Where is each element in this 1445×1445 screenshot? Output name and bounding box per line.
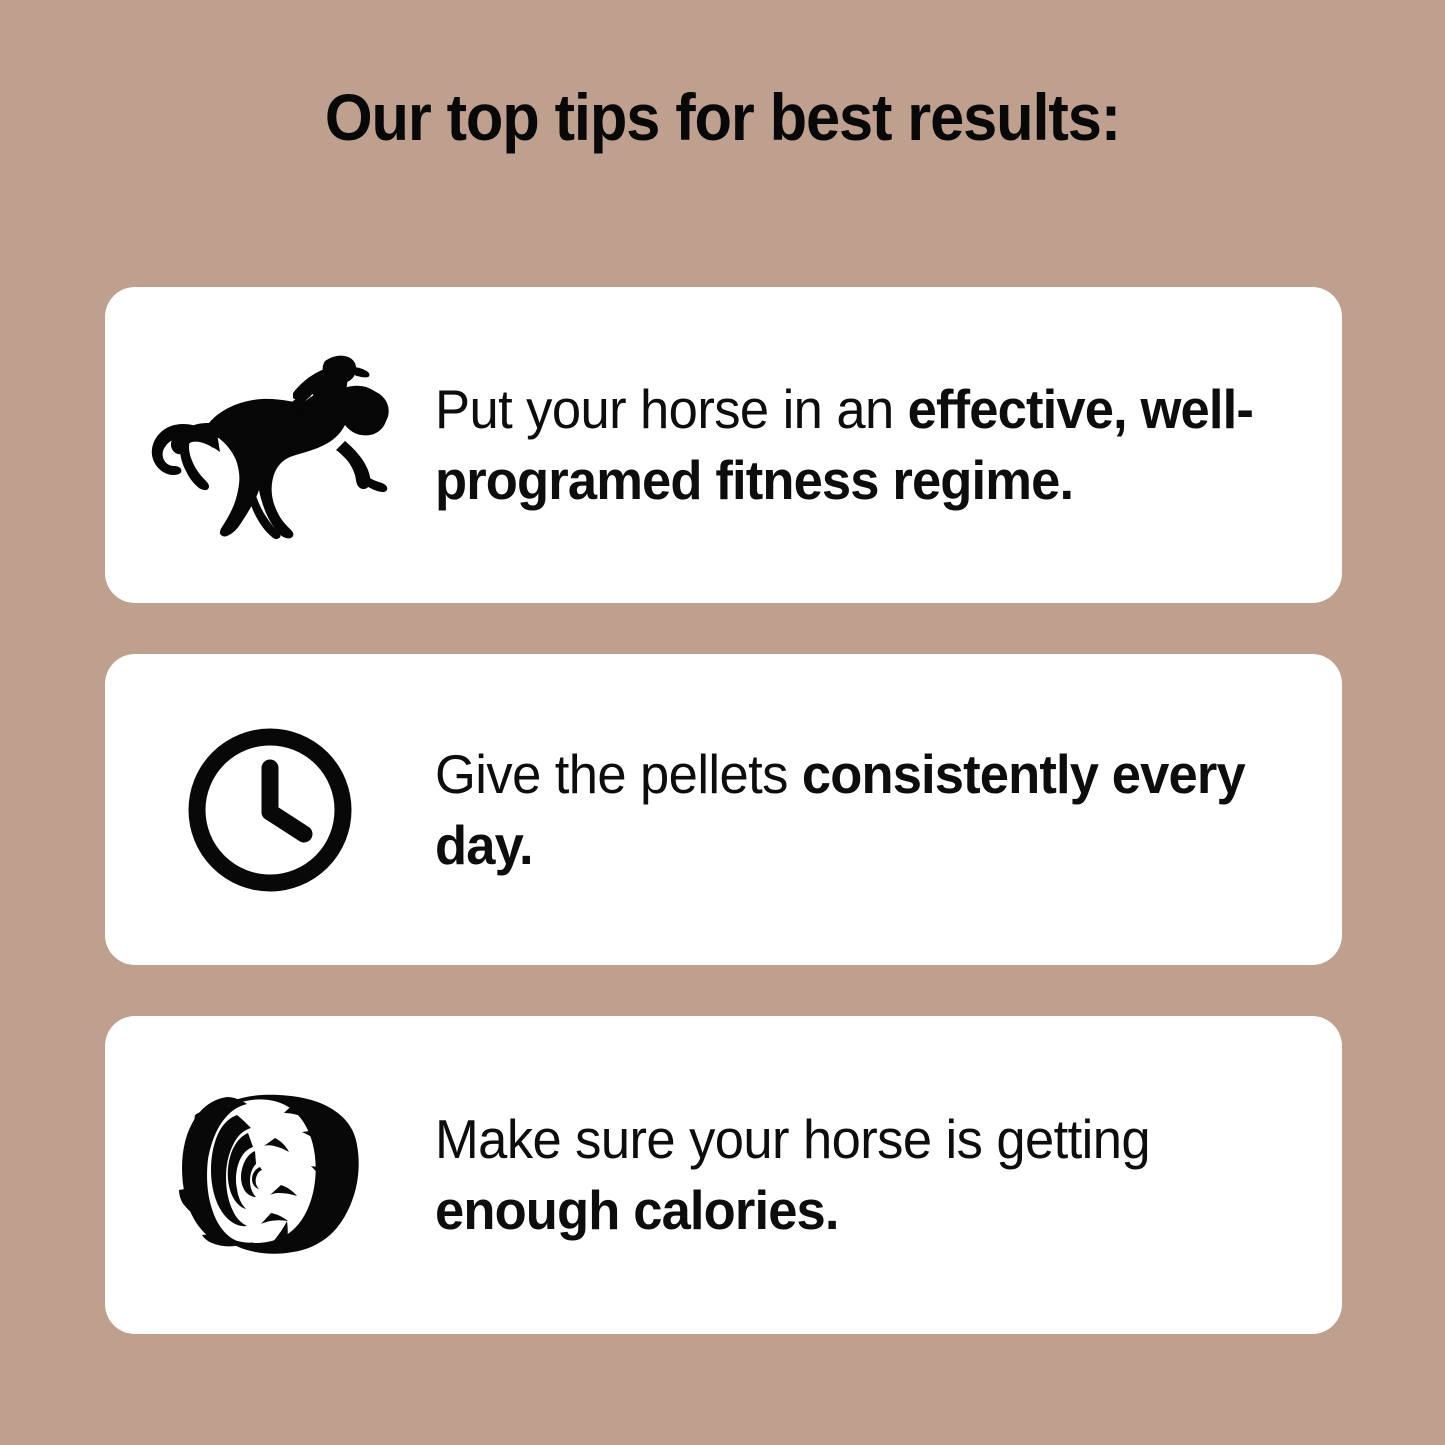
tip-text-normal: Make sure your horse is getting <box>435 1108 1150 1170</box>
tip-card-horse-fitness: Put your horse in an effective, well-pro… <box>105 287 1342 603</box>
tip-text: Give the pellets consistently every day. <box>435 739 1301 881</box>
tip-text-emphasis: enough calories. <box>435 1179 839 1241</box>
hay-bale-icon <box>175 1093 365 1257</box>
tip-card-consistency: Give the pellets consistently every day. <box>105 654 1342 965</box>
tip-card-calories: Make sure your horse is getting enough c… <box>105 1016 1342 1334</box>
tips-list: Put your horse in an effective, well-pro… <box>105 287 1342 1334</box>
tips-poster: Our top tips for best results: <box>0 0 1445 1445</box>
clock-icon <box>184 724 356 896</box>
tip-icon-slot <box>105 724 435 896</box>
tip-icon-slot <box>105 1093 435 1257</box>
tip-text-normal: Put your horse in an <box>435 378 908 440</box>
tip-icon-slot <box>105 345 435 545</box>
tip-text: Put your horse in an effective, well-pro… <box>435 374 1301 516</box>
tip-text-normal: Give the pellets <box>435 743 802 805</box>
page-title: Our top tips for best results: <box>51 79 1395 155</box>
tip-text: Make sure your horse is getting enough c… <box>435 1104 1301 1246</box>
horse-and-rider-icon <box>147 345 393 545</box>
